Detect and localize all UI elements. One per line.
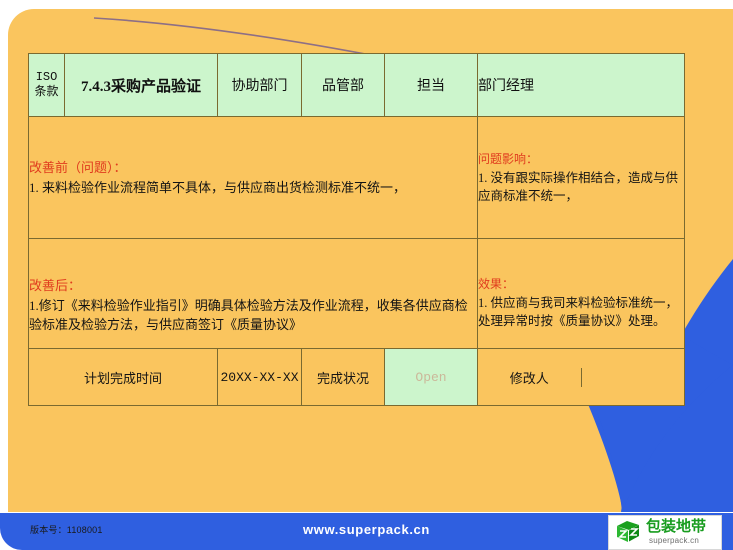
plan-date-label-cell: 计划完成时间 xyxy=(29,349,218,406)
table-header-row: ISO 条款 7.4.3采购产品验证 协助部门 品管部 担当 部门经理 xyxy=(29,54,685,117)
clause-title-cell: 7.4.3采购产品验证 xyxy=(65,54,218,117)
problem-impact-cell: 问题影响： 1. 没有跟实际操作相结合，造成与供应商标准不统一， xyxy=(478,117,685,239)
owner-value-cell: 部门经理 xyxy=(478,54,685,117)
after-improvement-body: 1.修订《来料检验作业指引》明确具体检验方法及作业流程，收集各供应商检验标准及检… xyxy=(29,296,477,334)
assist-dept-label-cell: 协助部门 xyxy=(218,54,302,117)
improvement-report-table: ISO 条款 7.4.3采购产品验证 协助部门 品管部 担当 部门经理 改善前（… xyxy=(28,53,685,406)
brand-logo-name: 包装地带 xyxy=(646,518,706,535)
modifier-label-cell: 修改人 xyxy=(478,368,581,387)
owner-label-cell: 担当 xyxy=(385,54,478,117)
before-impact-row: 改善前（问题）： 1. 来料检验作业流程简单不具体，与供应商出货检测标准不统一，… xyxy=(29,117,685,239)
before-problem-cell: 改善前（问题）： 1. 来料检验作业流程简单不具体，与供应商出货检测标准不统一， xyxy=(29,117,478,239)
iso-clause-header: ISO 条款 xyxy=(29,54,65,117)
slide-page: ISO 条款 7.4.3采购产品验证 协助部门 品管部 担当 部门经理 改善前（… xyxy=(0,0,733,550)
status-value-cell: Open xyxy=(385,349,478,406)
plan-date-value-cell: 20XX-XX-XX xyxy=(218,349,302,406)
status-label-cell: 完成状况 xyxy=(302,349,385,406)
effect-title: 效果： xyxy=(478,275,684,293)
after-improvement-title: 改善后： xyxy=(29,276,477,295)
effect-body: 1. 供应商与我司来料检验标准统一，处理异常时按《质量协议》处理。 xyxy=(478,294,684,330)
problem-impact-title: 问题影响： xyxy=(478,150,684,168)
after-improvement-cell: 改善后： 1.修订《来料检验作业指引》明确具体检验方法及作业流程，收集各供应商检… xyxy=(29,239,478,349)
modifier-value-cell xyxy=(581,368,684,387)
brand-logo-url: superpack.cn xyxy=(649,536,699,545)
before-problem-title: 改善前（问题）： xyxy=(29,158,477,177)
table-footer-row: 计划完成时间 20XX-XX-XX 完成状况 Open 修改人 xyxy=(29,349,685,406)
iso-clause-line1: ISO xyxy=(29,70,64,85)
before-problem-body: 1. 来料检验作业流程简单不具体，与供应商出货检测标准不统一， xyxy=(29,178,477,197)
assist-dept-value-cell: 品管部 xyxy=(302,54,385,117)
after-effect-row: 改善后： 1.修订《来料检验作业指引》明确具体检验方法及作业流程，收集各供应商检… xyxy=(29,239,685,349)
box-logo-icon xyxy=(612,519,644,544)
modifier-cell: 修改人 xyxy=(478,349,685,406)
problem-impact-body: 1. 没有跟实际操作相结合，造成与供应商标准不统一， xyxy=(478,169,684,205)
effect-cell: 效果： 1. 供应商与我司来料检验标准统一，处理异常时按《质量协议》处理。 xyxy=(478,239,685,349)
iso-clause-line2: 条款 xyxy=(29,85,64,100)
brand-logo[interactable]: 包装地带 superpack.cn xyxy=(608,515,722,550)
